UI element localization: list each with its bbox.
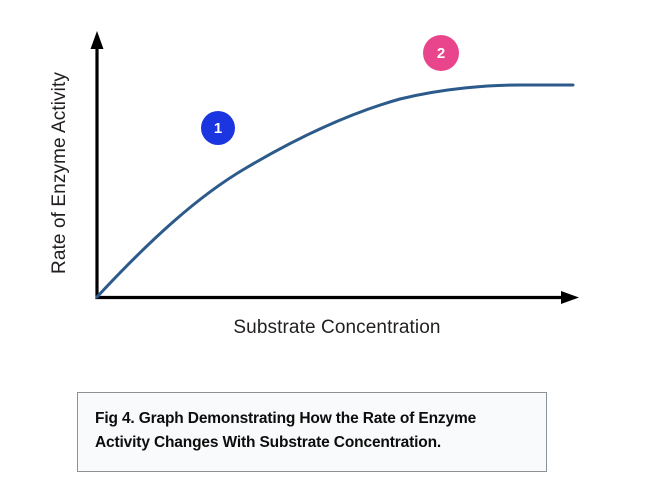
figure-caption-box: Fig 4. Graph Demonstrating How the Rate … bbox=[77, 392, 547, 472]
y-axis-arrowhead-icon bbox=[91, 31, 104, 49]
figure-container: Rate of Enzyme Activity Substrate Concen… bbox=[0, 0, 655, 501]
x-axis-label: Substrate Concentration bbox=[97, 317, 577, 339]
x-axis-arrowhead-icon bbox=[561, 291, 579, 304]
enzyme-kinetics-chart bbox=[0, 0, 655, 370]
annotation-badge-2[interactable]: 2 bbox=[423, 35, 459, 71]
annotation-badge-1[interactable]: 1 bbox=[201, 111, 235, 145]
y-axis bbox=[91, 31, 104, 299]
figure-caption-text: Fig 4. Graph Demonstrating How the Rate … bbox=[95, 407, 529, 454]
x-axis bbox=[96, 291, 580, 304]
enzyme-activity-curve bbox=[97, 85, 573, 297]
y-axis-label: Rate of Enzyme Activity bbox=[49, 48, 71, 298]
chart-area: Rate of Enzyme Activity Substrate Concen… bbox=[0, 0, 655, 370]
